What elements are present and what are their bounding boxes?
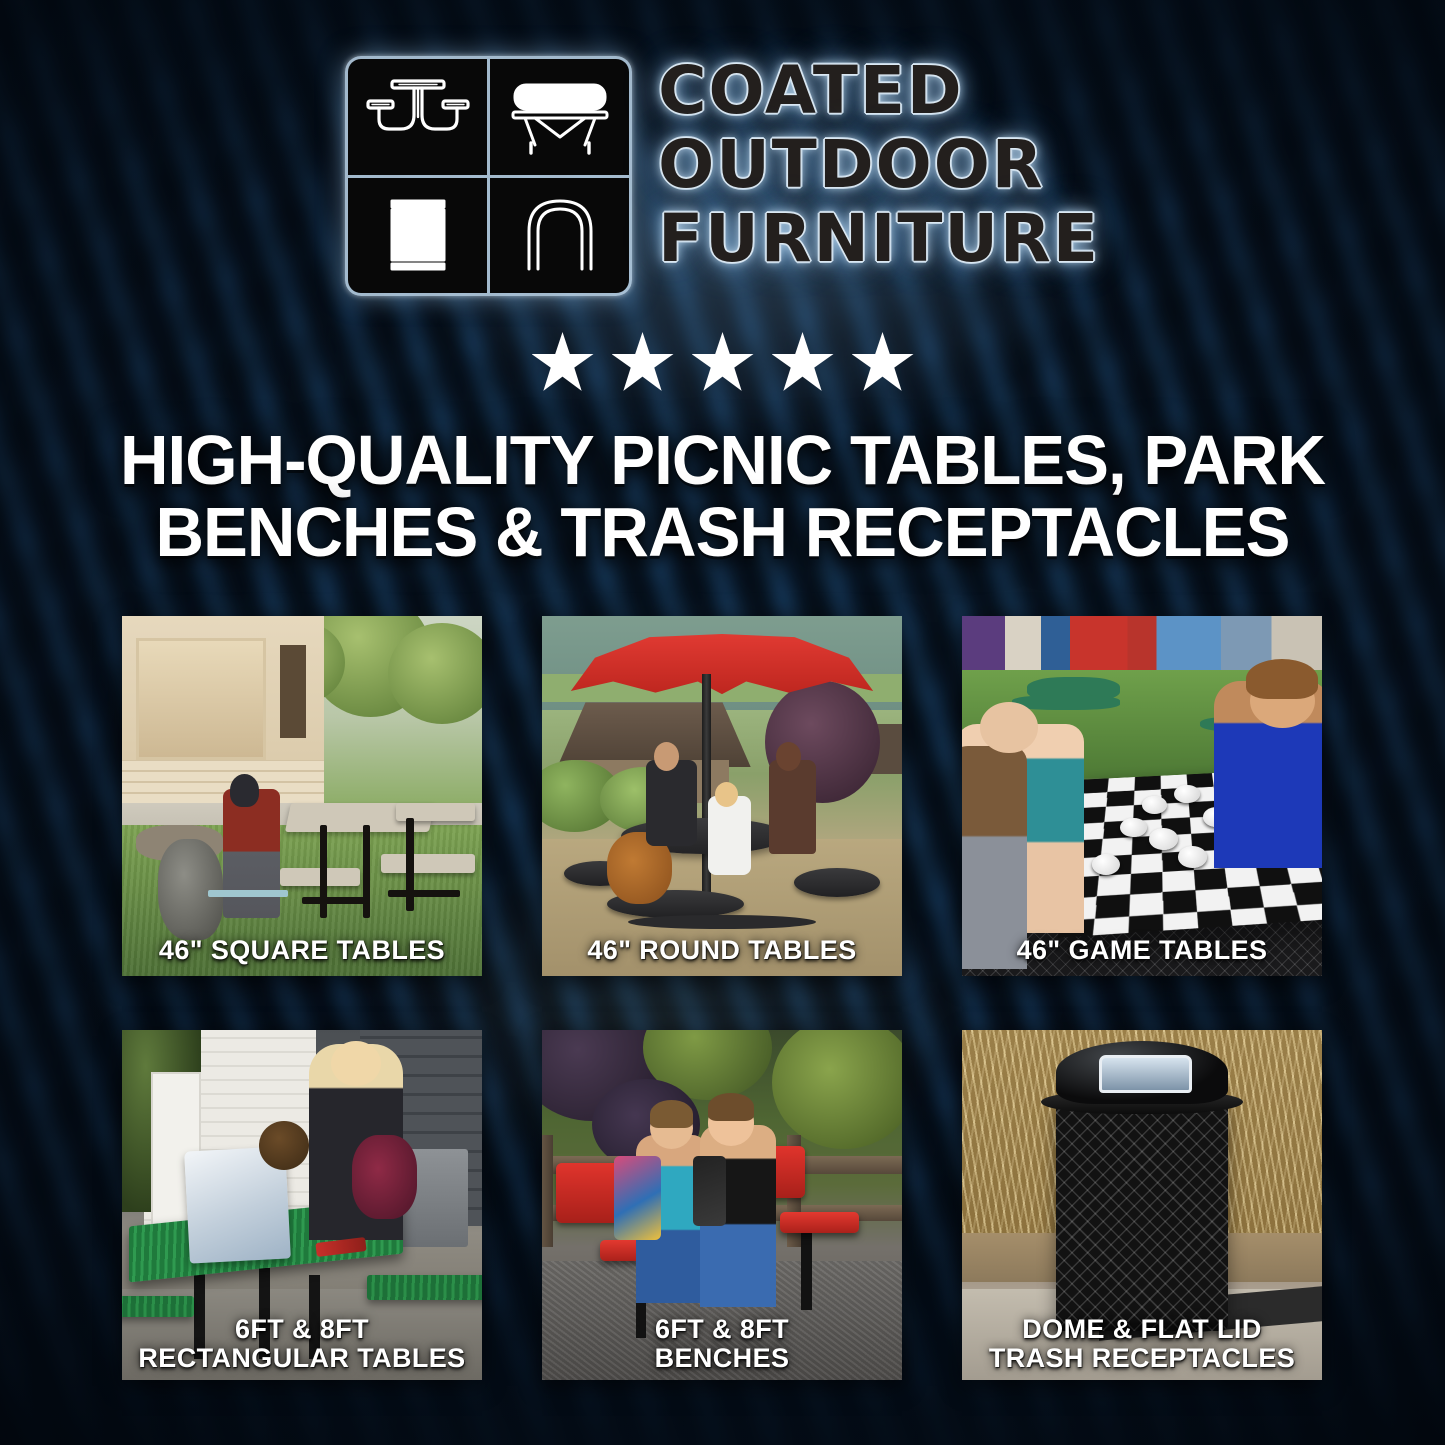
product-caption-rectangular-tables: 6FT & 8FT RECTANGULAR TABLES <box>122 1315 482 1372</box>
logo-wordmark: COATED OUTDOOR FURNITURE <box>658 56 1100 270</box>
caption-line-1: 46" GAME TABLES <box>968 936 1316 964</box>
trash-receptacle-icon <box>348 178 487 294</box>
caption-line-1: DOME & FLAT LID <box>968 1315 1316 1343</box>
star-icon <box>612 332 674 394</box>
product-card-square-tables[interactable]: 46" SQUARE TABLES <box>122 616 482 976</box>
caption-line-2: RECTANGULAR TABLES <box>128 1344 476 1372</box>
caption-line-2: BENCHES <box>548 1344 896 1372</box>
product-card-trash-receptacles[interactable]: DOME & FLAT LID TRASH RECEPTACLES <box>962 1030 1322 1380</box>
star-icon <box>532 332 594 394</box>
product-caption-round-tables: 46" ROUND TABLES <box>542 936 902 964</box>
bike-rack-arch-icon <box>490 178 629 294</box>
logo-icon-grid <box>345 56 632 296</box>
product-card-round-tables[interactable]: 46" ROUND TABLES <box>542 616 902 976</box>
promo-poster: COATED OUTDOOR FURNITURE HIGH-QUALITY PI… <box>0 0 1445 1445</box>
product-caption-trash-receptacles: DOME & FLAT LID TRASH RECEPTACLES <box>962 1315 1322 1372</box>
caption-line-1: 6FT & 8FT <box>128 1315 476 1343</box>
star-rating <box>0 332 1445 394</box>
picnic-table-front-icon <box>348 59 487 175</box>
product-photo-game-tables <box>962 616 1322 976</box>
product-photo-round-tables <box>542 616 902 976</box>
headline-line-2: BENCHES & TRASH RECEPTACLES <box>90 496 1354 568</box>
caption-line-2: TRASH RECEPTACLES <box>968 1344 1316 1372</box>
brand-logo: COATED OUTDOOR FURNITURE <box>0 56 1445 296</box>
page-title: HIGH-QUALITY PICNIC TABLES, PARK BENCHES… <box>29 424 1416 568</box>
logo-line-outdoor: OUTDOOR <box>658 134 1100 196</box>
logo-line-furniture: FURNITURE <box>658 208 1100 270</box>
product-caption-game-tables: 46" GAME TABLES <box>962 936 1322 964</box>
star-icon <box>692 332 754 394</box>
caption-line-1: 6FT & 8FT <box>548 1315 896 1343</box>
bench-table-side-icon <box>490 59 629 175</box>
product-card-rectangular-tables[interactable]: 6FT & 8FT RECTANGULAR TABLES <box>122 1030 482 1380</box>
product-card-game-tables[interactable]: 46" GAME TABLES <box>962 616 1322 976</box>
caption-line-1: 46" ROUND TABLES <box>548 936 896 964</box>
product-caption-square-tables: 46" SQUARE TABLES <box>122 936 482 964</box>
product-card-benches[interactable]: 6FT & 8FT BENCHES <box>542 1030 902 1380</box>
headline-line-1: HIGH-QUALITY PICNIC TABLES, PARK <box>90 424 1354 496</box>
star-icon <box>852 332 914 394</box>
caption-line-1: 46" SQUARE TABLES <box>128 936 476 964</box>
product-grid: 46" SQUARE TABLES <box>122 616 1323 1380</box>
star-icon <box>772 332 834 394</box>
product-photo-square-tables <box>122 616 482 976</box>
logo-line-coated: COATED <box>658 60 1100 122</box>
product-caption-benches: 6FT & 8FT BENCHES <box>542 1315 902 1372</box>
